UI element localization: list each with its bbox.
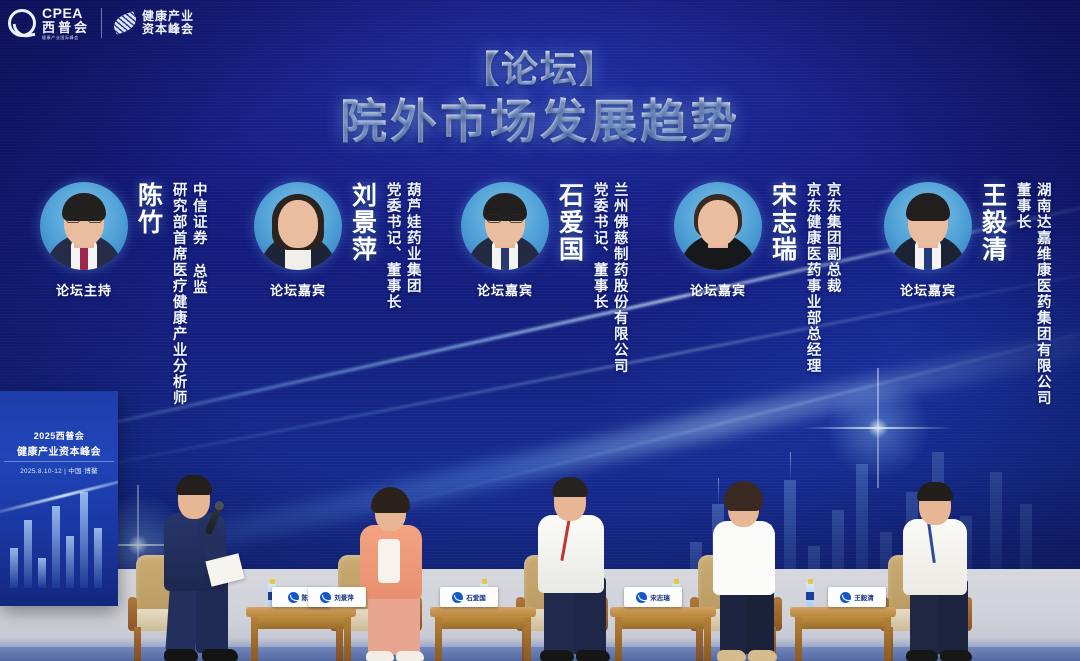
panelist-org: 兰州佛慈制药股份有限公司 — [611, 182, 628, 374]
nameplate-name: 宋志瑞 — [650, 592, 670, 602]
person-host — [150, 461, 260, 661]
panelist-role: 论坛嘉宾 — [900, 280, 956, 299]
panelist-cards: 论坛主持 陈竹 中信证券 总监 研究部首席医疗健康产业分析师 论坛嘉宾 — [0, 182, 1080, 422]
nameplate: 王毅清 — [828, 587, 886, 607]
conference-stage-photo: CPEA 西普会 健康产业国际峰会 健康产业 资本峰会 【论坛】 院外市场发展趋… — [0, 0, 1080, 661]
side-table: 王毅清 — [790, 555, 896, 661]
forum-title-line2: 院外市场发展趋势 — [0, 94, 1080, 150]
water-bottle — [806, 583, 814, 607]
logo-subtitle: 健康产业国际峰会 — [42, 36, 90, 40]
panelist-role: 论坛嘉宾 — [270, 280, 326, 299]
nameplate-logo-icon — [288, 592, 299, 603]
nameplate-name: 王毅清 — [854, 592, 874, 602]
panelist-name: 石爱国 — [556, 182, 583, 263]
panelist-title: 党委书记、董事长 — [384, 182, 401, 310]
podium-line1: 2025西普会 — [6, 429, 112, 442]
panelist-name: 刘景萍 — [349, 182, 376, 263]
avatar — [461, 182, 549, 270]
panelist-title: 董事长 — [1014, 182, 1031, 406]
side-table: 陈竹 刘景萍 — [246, 551, 356, 661]
panelist-card: 论坛嘉宾 王毅清 湖南达嘉维康医药集团有限公司 董事长 — [880, 182, 1051, 406]
cpea-logo: CPEA 西普会 健康产业国际峰会 — [8, 6, 90, 40]
nameplate-logo-icon — [452, 592, 463, 603]
panelist-org: 湖南达嘉维康医药集团有限公司 — [1034, 182, 1051, 406]
panelist-name: 王毅清 — [979, 182, 1006, 263]
side-table: 宋志瑞 — [610, 555, 716, 661]
avatar — [254, 182, 342, 270]
panelist-card: 论坛嘉宾 石爱国 兰州佛慈制药股份有限公司 党委书记、董事长 — [457, 182, 628, 374]
panelist-role: 论坛主持 — [56, 280, 112, 299]
leaf-logo-icon — [111, 11, 139, 35]
panelist-name: 陈竹 — [135, 182, 162, 236]
logo-divider — [101, 8, 102, 38]
nameplate-logo-icon — [636, 592, 647, 603]
panelist-name: 宋志瑞 — [769, 182, 796, 263]
logo-abbr: CPEA — [42, 6, 90, 20]
summit-logo: 健康产业 资本峰会 — [113, 10, 194, 35]
podium-line2: 健康产业资本峰会 — [2, 443, 116, 458]
avatar — [674, 182, 762, 270]
nameplate-logo-icon — [840, 592, 851, 603]
panelist-org: 中信证券 总监 — [190, 182, 207, 406]
panelist-role: 论坛嘉宾 — [690, 280, 746, 299]
panelist-title: 研究部首席医疗健康产业分析师 — [170, 182, 187, 406]
event-logo-bar: CPEA 西普会 健康产业国际峰会 健康产业 资本峰会 — [0, 0, 1080, 46]
panelist-role: 论坛嘉宾 — [477, 280, 533, 299]
panelist-title: 京东健康医药事业部总经理 — [804, 182, 821, 374]
nameplate-logo-icon — [320, 592, 331, 603]
avatar — [40, 182, 128, 270]
panelist-title: 党委书记、董事长 — [591, 182, 608, 374]
person-panelist-5 — [890, 475, 994, 661]
podium-line3: 2025.8.10-12 | 中国·博鳌 — [2, 465, 116, 475]
summit-line2: 资本峰会 — [142, 23, 194, 36]
avatar — [884, 182, 972, 270]
nameplate-name: 石爱国 — [466, 592, 486, 602]
panelist-card: 论坛嘉宾 刘景萍 葫芦娃药业集团 党委书记、董事长 — [250, 182, 421, 310]
nameplate: 刘景萍 — [308, 587, 366, 607]
cpea-circle-logo-icon — [8, 9, 36, 37]
panelist-org: 葫芦娃药业集团 — [404, 182, 421, 310]
podium-banner: 2025西普会 健康产业资本峰会 2025.8.10-12 | 中国·博鳌 — [0, 391, 118, 606]
forum-title-line1: 【论坛】 — [0, 48, 1080, 92]
nameplate: 宋志瑞 — [624, 587, 682, 607]
nameplate: 石爱国 — [440, 587, 498, 607]
nameplate-name: 刘景萍 — [334, 592, 354, 602]
logo-cn-name: 西普会 — [42, 21, 90, 34]
panelist-org: 京东集团副总裁 — [824, 182, 841, 374]
panelist-card: 论坛嘉宾 宋志瑞 京东集团副总裁 京东健康医药事业部总经理 — [670, 182, 841, 374]
panelist-card: 论坛主持 陈竹 中信证券 总监 研究部首席医疗健康产业分析师 — [36, 182, 207, 406]
forum-title-block: 【论坛】 院外市场发展趋势 — [0, 48, 1080, 150]
side-table: 石爱国 — [430, 553, 536, 661]
